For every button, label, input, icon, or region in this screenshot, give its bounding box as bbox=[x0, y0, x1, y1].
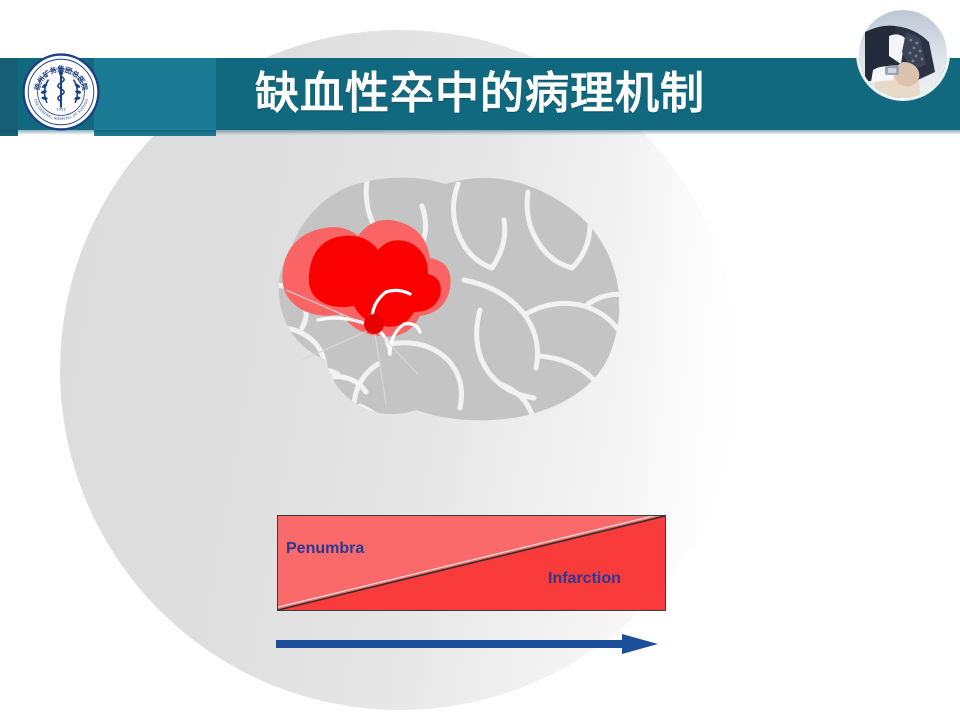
hospital-logo-icon: 徐州矿务集团总医院 THE GENERAL HOSPITAL OF XUZHOU bbox=[22, 53, 100, 131]
slide-canvas: 缺血性卒中的病理机制 徐州矿务集团总医院 THE GENERAL HOSPITA… bbox=[0, 0, 960, 720]
title-banner-shadow bbox=[0, 130, 960, 135]
doctor-photo-avatar bbox=[857, 8, 949, 100]
svg-text:1951: 1951 bbox=[56, 107, 66, 112]
brain-lateral-view-icon bbox=[228, 168, 680, 470]
time-progression-arrow-icon bbox=[274, 630, 664, 660]
infarction-label: Infarction bbox=[548, 570, 621, 588]
penumbra-infarction-diagram bbox=[277, 515, 666, 611]
page-title: 缺血性卒中的病理机制 bbox=[0, 58, 960, 130]
penumbra-label: Penumbra bbox=[286, 540, 364, 558]
